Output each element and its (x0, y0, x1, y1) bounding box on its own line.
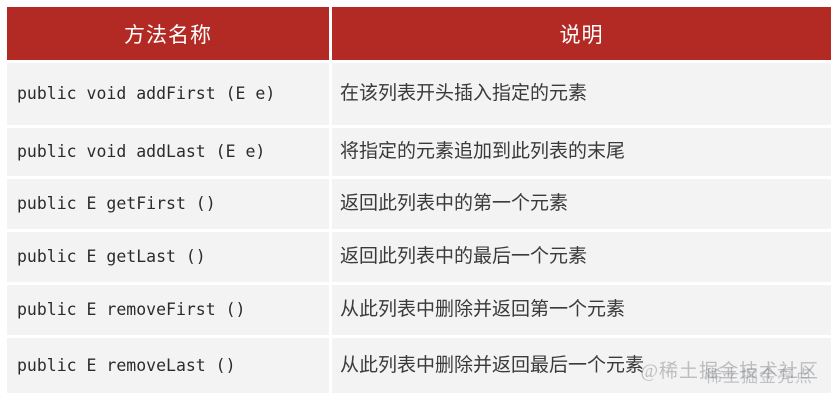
table-row: public E removeLast () 从此列表中删除并返回最后一个元素 (7, 338, 831, 393)
cell-method-name: public E removeFirst () (7, 285, 329, 335)
cell-method-name: public void addFirst (E e) (7, 63, 329, 125)
cell-description: 在该列表开头插入指定的元素 (332, 63, 831, 125)
table-row: public void addFirst (E e) 在该列表开头插入指定的元素 (7, 63, 831, 125)
table-row: public void addLast (E e) 将指定的元素追加到此列表的末… (7, 128, 831, 176)
cell-description: 将指定的元素追加到此列表的末尾 (332, 128, 831, 176)
column-header-description: 说明 (332, 7, 831, 60)
cell-description: 从此列表中删除并返回第一个元素 (332, 285, 831, 335)
table-row: public E removeFirst () 从此列表中删除并返回第一个元素 (7, 285, 831, 335)
column-header-method: 方法名称 (7, 7, 329, 60)
cell-method-name: public E removeLast () (7, 338, 329, 393)
cell-method-name: public E getLast () (7, 232, 329, 282)
table-row: public E getLast () 返回此列表中的最后一个元素 (7, 232, 831, 282)
methods-table: 方法名称 说明 public void addFirst (E e) 在该列表开… (7, 7, 831, 387)
cell-method-name: public void addLast (E e) (7, 128, 329, 176)
cell-description: 返回此列表中的最后一个元素 (332, 232, 831, 282)
table-body: public void addFirst (E e) 在该列表开头插入指定的元素… (7, 63, 831, 393)
cell-description: 从此列表中删除并返回最后一个元素 (332, 338, 831, 393)
table-header-row: 方法名称 说明 (7, 7, 831, 60)
cell-method-name: public E getFirst () (7, 179, 329, 229)
cell-description: 返回此列表中的第一个元素 (332, 179, 831, 229)
table-row: public E getFirst () 返回此列表中的第一个元素 (7, 179, 831, 229)
